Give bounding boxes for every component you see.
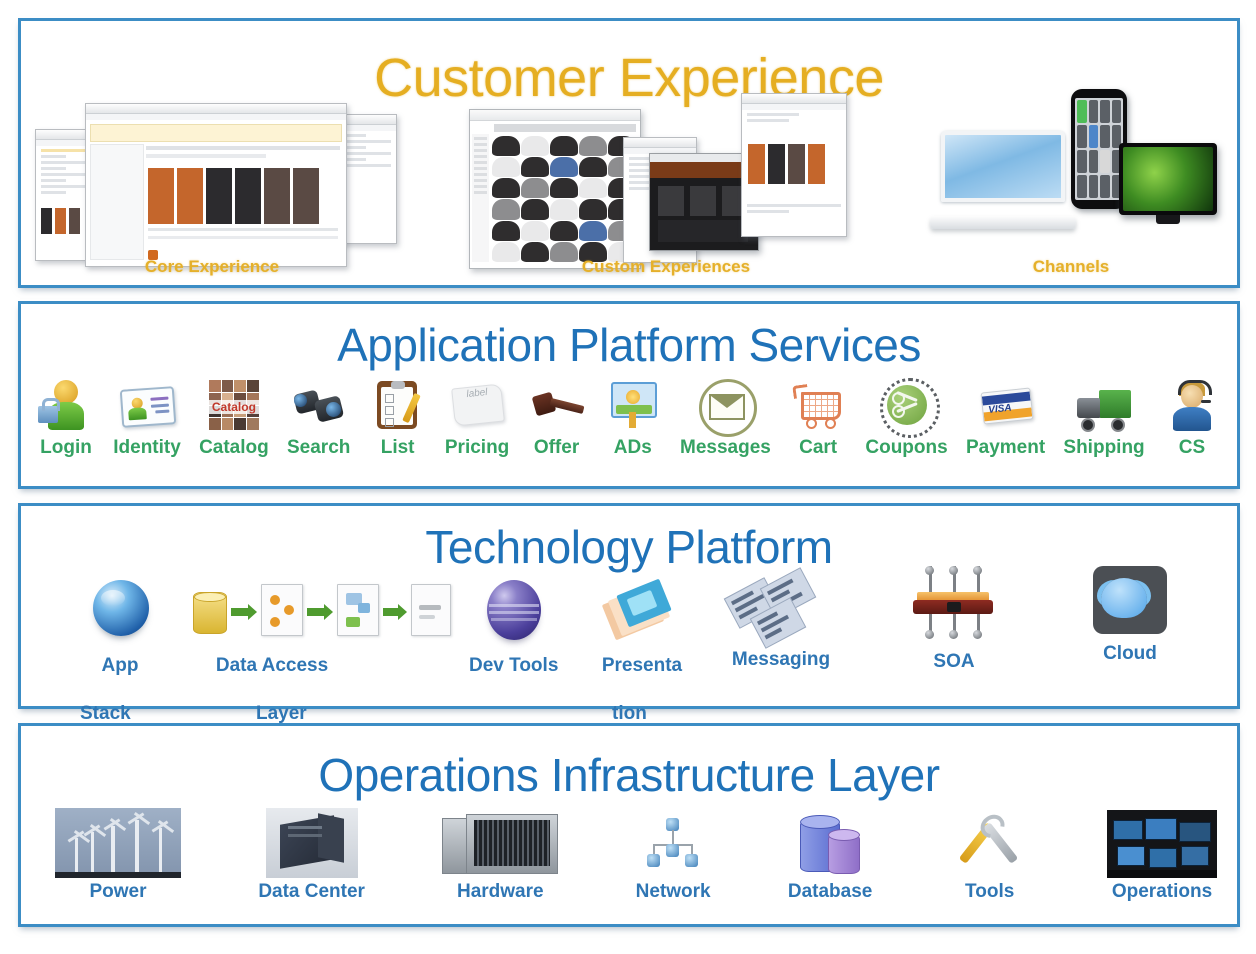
service-messages[interactable]: Messages bbox=[680, 376, 771, 457]
service-identity[interactable]: Identity bbox=[113, 376, 181, 457]
purple-sphere-icon bbox=[471, 578, 557, 652]
application-services-icon-row: Login bbox=[37, 376, 1221, 457]
tech-data-access-layer[interactable]: Data Access bbox=[189, 578, 421, 676]
clipboard-pencil-icon bbox=[369, 376, 427, 434]
ops-label-power: Power bbox=[89, 882, 146, 902]
tech-label-messaging: Messaging bbox=[732, 650, 830, 670]
service-label-catalog: Catalog bbox=[199, 438, 269, 457]
database-cylinders-icon bbox=[790, 810, 870, 878]
person-with-padlock-icon bbox=[37, 376, 95, 434]
blue-sphere-icon bbox=[77, 578, 163, 652]
service-payment[interactable]: VISA Payment bbox=[966, 376, 1045, 457]
catalog-word-label: Catalog bbox=[205, 400, 263, 414]
binoculars-icon bbox=[290, 376, 348, 434]
message-cards-icon bbox=[721, 572, 841, 646]
ops-operations[interactable]: Operations bbox=[1107, 810, 1217, 902]
ops-label-hardware: Hardware bbox=[457, 882, 544, 902]
noc-monitors-icon bbox=[1107, 810, 1217, 878]
tech-label-presentation: Presenta bbox=[602, 656, 682, 676]
shopping-cart-icon bbox=[789, 376, 847, 434]
group-custom-experiences: Custom Experiences bbox=[451, 81, 881, 277]
data-center-icon bbox=[266, 808, 358, 878]
ops-hardware[interactable]: Hardware bbox=[442, 810, 558, 902]
service-label-shipping: Shipping bbox=[1063, 438, 1144, 457]
billboard-sign-icon bbox=[604, 376, 662, 434]
service-search[interactable]: Search bbox=[287, 376, 350, 457]
ops-tools[interactable]: Tools bbox=[950, 810, 1030, 902]
service-label-identity: Identity bbox=[113, 438, 181, 457]
group-label-custom-experiences: Custom Experiences bbox=[451, 257, 881, 277]
band-title-operations-infrastructure-layer: Operations Infrastructure Layer bbox=[21, 748, 1237, 802]
product-grid-window-icon bbox=[469, 109, 641, 269]
headset-agent-icon bbox=[1163, 376, 1221, 434]
operations-icon-row: Power Data Center bbox=[55, 808, 1217, 902]
service-offer[interactable]: Offer bbox=[528, 376, 586, 457]
service-label-offer: Offer bbox=[534, 438, 579, 457]
service-label-coupons: Coupons bbox=[865, 438, 947, 457]
tech-messaging[interactable]: Messaging bbox=[721, 572, 841, 670]
group-label-core-experience: Core Experience bbox=[27, 257, 397, 277]
service-cart[interactable]: Cart bbox=[789, 376, 847, 457]
id-card-icon bbox=[118, 376, 176, 434]
presentation-slide-icon bbox=[599, 578, 685, 652]
cloud-icon bbox=[1087, 564, 1173, 640]
group-core-experience: Core Experience bbox=[27, 89, 397, 277]
tech-dev-tools[interactable]: Dev Tools bbox=[469, 578, 558, 676]
database-pipeline-icon bbox=[189, 578, 421, 652]
service-list[interactable]: List bbox=[369, 376, 427, 457]
service-coupons[interactable]: Coupons bbox=[865, 376, 947, 457]
group-label-channels: Channels bbox=[921, 257, 1221, 277]
scissors-dashed-circle-icon bbox=[878, 376, 936, 434]
service-label-ads: ADs bbox=[614, 438, 652, 457]
service-label-cs: CS bbox=[1179, 438, 1205, 457]
ops-label-database: Database bbox=[788, 882, 873, 902]
ops-label-data-center: Data Center bbox=[258, 882, 365, 902]
service-label-pricing: Pricing bbox=[445, 438, 509, 457]
service-label-payment: Payment bbox=[966, 438, 1045, 457]
band-title-technology-platform: Technology Platform bbox=[21, 520, 1237, 574]
ops-power[interactable]: Power bbox=[55, 808, 181, 902]
browser-window-main-icon bbox=[85, 103, 347, 267]
browser-window-icon bbox=[741, 93, 847, 237]
ops-label-network: Network bbox=[636, 882, 711, 902]
band-title-application-platform-services: Application Platform Services bbox=[21, 318, 1237, 372]
service-label-cart: Cart bbox=[799, 438, 837, 457]
tech-app-stack[interactable]: App bbox=[77, 578, 163, 676]
group-channels: Channels bbox=[921, 81, 1221, 277]
ops-network[interactable]: Network bbox=[636, 810, 711, 902]
delivery-truck-icon bbox=[1075, 376, 1133, 434]
screwdriver-wrench-icon bbox=[950, 810, 1030, 878]
band-customer-experience: Customer Experience bbox=[18, 18, 1240, 288]
visa-credit-card-icon: VISA bbox=[977, 376, 1035, 434]
service-login[interactable]: Login bbox=[37, 376, 95, 457]
gavel-icon bbox=[528, 376, 586, 434]
network-nodes-icon bbox=[637, 810, 709, 878]
ops-data-center[interactable]: Data Center bbox=[258, 808, 365, 902]
ops-label-tools: Tools bbox=[965, 882, 1014, 902]
service-pricing[interactable]: label Pricing bbox=[445, 376, 509, 457]
tech-cloud[interactable]: Cloud bbox=[1087, 564, 1173, 664]
service-shipping[interactable]: Shipping bbox=[1063, 376, 1144, 457]
tech-presentation[interactable]: Presenta bbox=[599, 578, 685, 676]
service-label-list: List bbox=[381, 438, 415, 457]
wind-turbines-icon bbox=[55, 808, 181, 878]
tech-label-soa: SOA bbox=[933, 652, 974, 672]
service-catalog[interactable]: Catalog Catalog bbox=[199, 376, 269, 457]
tech-label-dev-tools: Dev Tools bbox=[469, 656, 558, 676]
television-icon bbox=[1119, 143, 1217, 215]
tech-soa[interactable]: SOA bbox=[911, 566, 997, 672]
tech-label-data-access-layer-line2: Layer bbox=[256, 703, 307, 725]
band-application-platform-services: Application Platform Services Login bbox=[18, 301, 1240, 489]
visa-word: VISA bbox=[987, 403, 1011, 416]
tech-label-app-stack: App bbox=[102, 656, 139, 676]
service-bus-icon bbox=[911, 566, 997, 648]
tech-label-cloud: Cloud bbox=[1103, 644, 1157, 664]
price-tag-label-icon: label bbox=[448, 376, 506, 434]
laptop-icon bbox=[941, 131, 1065, 229]
tech-label-app-stack-line2: Stack bbox=[80, 703, 131, 725]
service-label-messages: Messages bbox=[680, 438, 771, 457]
catalog-photo-grid-icon: Catalog bbox=[205, 376, 263, 434]
service-label-login: Login bbox=[40, 438, 92, 457]
ops-database[interactable]: Database bbox=[788, 810, 873, 902]
band-technology-platform: Technology Platform App bbox=[18, 503, 1240, 709]
tech-label-presentation-line2: tion bbox=[612, 703, 647, 725]
tech-label-data-access-layer: Data Access bbox=[216, 656, 328, 676]
architecture-diagram: Customer Experience bbox=[0, 0, 1256, 954]
service-cs[interactable]: CS bbox=[1163, 376, 1221, 457]
service-label-search: Search bbox=[287, 438, 350, 457]
band-operations-infrastructure-layer: Operations Infrastructure Layer bbox=[18, 723, 1240, 927]
ops-label-operations: Operations bbox=[1112, 882, 1212, 902]
server-rack-icon bbox=[442, 810, 558, 878]
envelope-in-circle-icon bbox=[696, 376, 754, 434]
service-ads[interactable]: ADs bbox=[604, 376, 662, 457]
